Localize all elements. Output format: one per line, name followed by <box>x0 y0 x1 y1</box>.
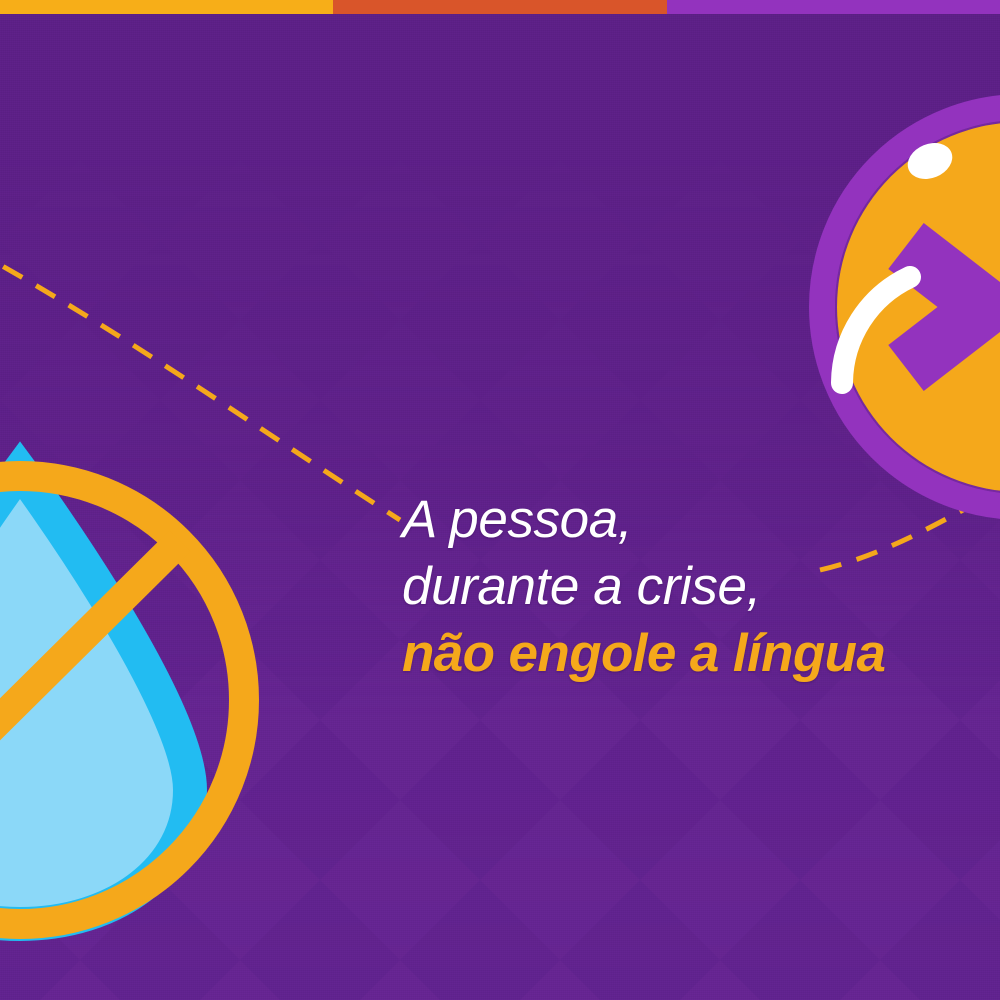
chevron-right-glyph <box>906 246 985 368</box>
no-water-prohibition-icon <box>0 470 244 924</box>
gloss-dot-highlight <box>902 137 957 186</box>
dashed-connector-left <box>0 248 400 520</box>
top-bar-orange-segment <box>333 0 667 14</box>
top-bar-purple-segment <box>667 0 1000 14</box>
chevron-circle-icon <box>822 107 1000 507</box>
headline-block: A pessoa, durante a crise, não engole a … <box>402 486 1000 687</box>
tricolor-top-bar <box>0 0 1000 14</box>
headline-line-1: A pessoa, <box>402 486 1000 553</box>
headline-line-2: durante a crise, <box>402 553 1000 620</box>
top-bar-yellow-segment <box>0 0 333 14</box>
poster-canvas: A pessoa, durante a crise, não engole a … <box>0 0 1000 1000</box>
gloss-arc-highlight <box>842 277 910 383</box>
headline-line-3: não engole a língua <box>402 620 1000 687</box>
